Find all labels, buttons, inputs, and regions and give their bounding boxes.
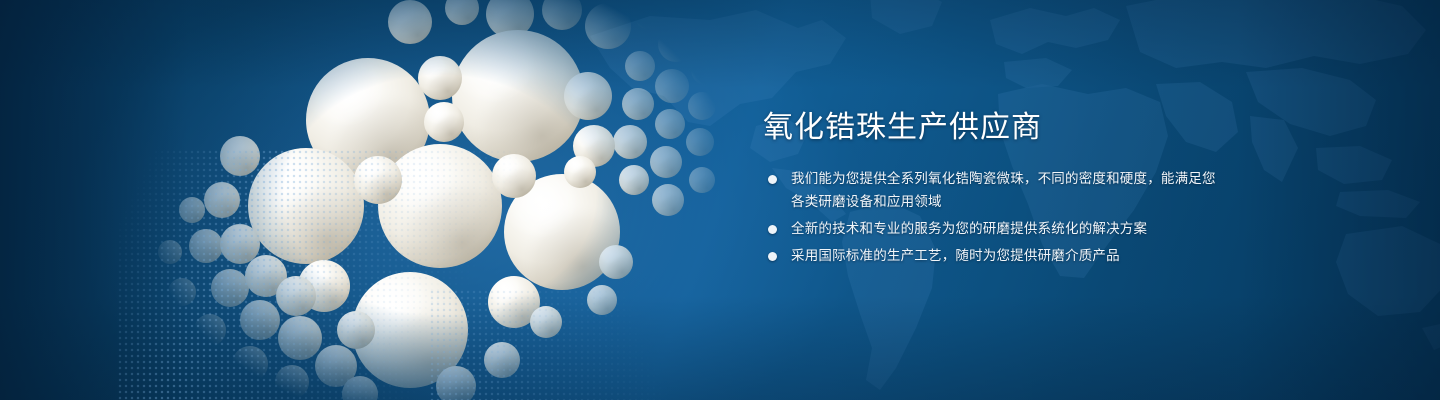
list-item-label: 采用国际标准的生产工艺，随时为您提供研磨介质产品 (791, 248, 1120, 264)
list-item-label: 我们能为您提供全系列氧化锆陶瓷微珠，不同的密度和硬度，能满足您各类研磨设备和应用… (791, 171, 1216, 210)
bullet-dot-icon (768, 175, 777, 184)
list-item-label: 全新的技术和专业的服务为您的研磨提供系统化的解决方案 (791, 221, 1147, 237)
list-item: 全新的技术和专业的服务为您的研磨提供系统化的解决方案 (763, 218, 1223, 241)
feature-list: 我们能为您提供全系列氧化锆陶瓷微珠，不同的密度和硬度，能满足您各类研磨设备和应用… (763, 168, 1223, 268)
zirconia-beads-image (110, 0, 720, 400)
bullet-dot-icon (768, 252, 777, 261)
bullet-dot-icon (768, 225, 777, 234)
page-title: 氧化锆珠生产供应商 (763, 108, 1223, 148)
banner-copy: 氧化锆珠生产供应商 我们能为您提供全系列氧化锆陶瓷微珠，不同的密度和硬度，能满足… (763, 108, 1223, 268)
list-item: 采用国际标准的生产工艺，随时为您提供研磨介质产品 (763, 245, 1223, 268)
list-item: 我们能为您提供全系列氧化锆陶瓷微珠，不同的密度和硬度，能满足您各类研磨设备和应用… (763, 168, 1223, 214)
hero-banner: 氧化锆珠生产供应商 我们能为您提供全系列氧化锆陶瓷微珠，不同的密度和硬度，能满足… (0, 0, 1440, 400)
